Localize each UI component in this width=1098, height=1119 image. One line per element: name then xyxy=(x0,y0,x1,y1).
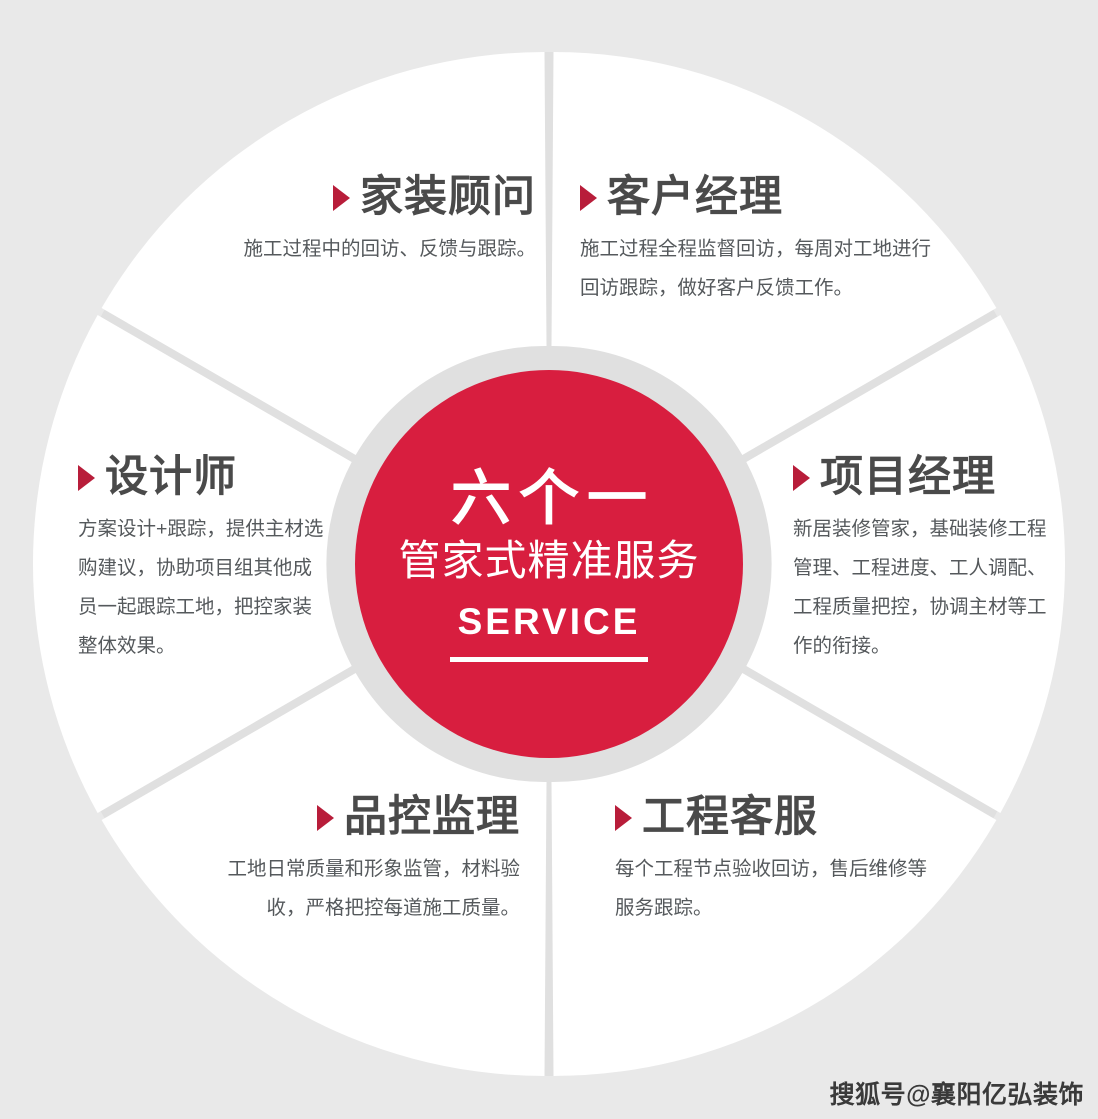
triangle-marker-icon xyxy=(333,185,350,211)
segment-heading: 工程客服 xyxy=(615,795,945,840)
segment-description: 工地日常质量和形象监管，材料验收，严格把控每道施工质量。 xyxy=(210,850,520,928)
segment-account-manager[interactable]: 客户经理 施工过程全程监督回访，每周对工地进行回访跟踪，做好客户反馈工作。 xyxy=(580,175,945,308)
segment-designer[interactable]: 设计师 方案设计+跟踪，提供主材选购建议，协助项目组其他成员一起跟踪工地，把控家… xyxy=(78,455,328,666)
segment-title: 客户经理 xyxy=(607,175,783,220)
segment-description: 新居装修管家，基础装修工程管理、工程进度、工人调配、工程质量把控，协调主材等工作… xyxy=(793,510,1048,666)
segment-title: 品控监理 xyxy=(344,795,520,840)
segment-heading: 设计师 xyxy=(78,455,328,500)
watermark-label: 搜狐号@襄阳亿弘装饰 xyxy=(830,1075,1084,1111)
segment-description: 方案设计+跟踪，提供主材选购建议，协助项目组其他成员一起跟踪工地，把控家装整体效… xyxy=(78,510,328,666)
segment-heading: 客户经理 xyxy=(580,175,945,220)
segment-home-decor-advisor[interactable]: 家装顾问 施工过程中的回访、反馈与跟踪。 xyxy=(196,175,536,269)
segment-description: 施工过程中的回访、反馈与跟踪。 xyxy=(196,230,536,269)
segment-heading: 家装顾问 xyxy=(196,175,536,220)
segment-quality-supervision[interactable]: 品控监理 工地日常质量和形象监管，材料验收，严格把控每道施工质量。 xyxy=(210,795,520,928)
triangle-marker-icon xyxy=(78,465,95,491)
center-hub-circle[interactable] xyxy=(355,370,743,758)
triangle-marker-icon xyxy=(580,185,597,211)
segment-heading: 项目经理 xyxy=(793,455,1048,500)
segment-heading: 品控监理 xyxy=(210,795,520,840)
triangle-marker-icon xyxy=(615,805,632,831)
segment-title: 家装顾问 xyxy=(360,175,536,220)
segment-description: 施工过程全程监督回访，每周对工地进行回访跟踪，做好客户反馈工作。 xyxy=(580,230,945,308)
triangle-marker-icon xyxy=(793,465,810,491)
triangle-marker-icon xyxy=(317,805,334,831)
segment-description: 每个工程节点验收回访，售后维修等服务跟踪。 xyxy=(615,850,945,928)
segment-project-manager[interactable]: 项目经理 新居装修管家，基础装修工程管理、工程进度、工人调配、工程质量把控，协调… xyxy=(793,455,1048,666)
segment-engineering-service[interactable]: 工程客服 每个工程节点验收回访，售后维修等服务跟踪。 xyxy=(615,795,945,928)
segment-title: 设计师 xyxy=(105,455,237,500)
segment-title: 项目经理 xyxy=(820,455,996,500)
segment-title: 工程客服 xyxy=(642,795,818,840)
